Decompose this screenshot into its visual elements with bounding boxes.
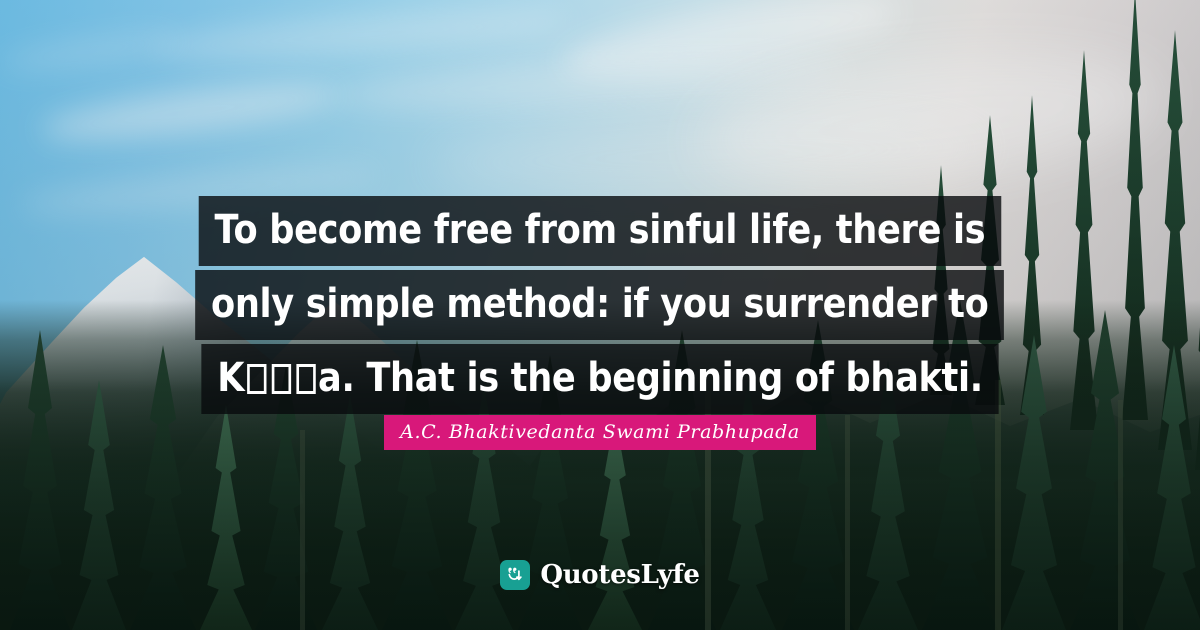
missing-glyph-box xyxy=(296,364,315,394)
tree-trunk xyxy=(300,430,305,630)
brand-logo[interactable]: QuotesLyfe xyxy=(0,560,1200,590)
quote-card: To become free from sinful life, there i… xyxy=(0,0,1200,630)
quote-text-block: To become free from sinful life, there i… xyxy=(0,196,1200,414)
author-name-badge: A.C. Bhaktivedanta Swami Prabhupada xyxy=(384,415,816,450)
quote-line-3-suffix: a. That is the beginning of bhakti. xyxy=(318,355,983,401)
quote-line-3-prefix: K xyxy=(217,355,244,401)
missing-glyph-box xyxy=(271,364,290,394)
author-attribution: A.C. Bhaktivedanta Swami Prabhupada xyxy=(0,415,1200,450)
quote-line-3: Ka. That is the beginning of bhakti. xyxy=(201,344,998,414)
brand-name: QuotesLyfe xyxy=(540,560,699,590)
quote-line-2: only simple method: if you surrender to xyxy=(195,270,1004,340)
quote-line-1: To become free from sinful life, there i… xyxy=(199,196,1001,266)
missing-glyph-box xyxy=(247,364,266,394)
quote-marks-icon xyxy=(500,560,530,590)
